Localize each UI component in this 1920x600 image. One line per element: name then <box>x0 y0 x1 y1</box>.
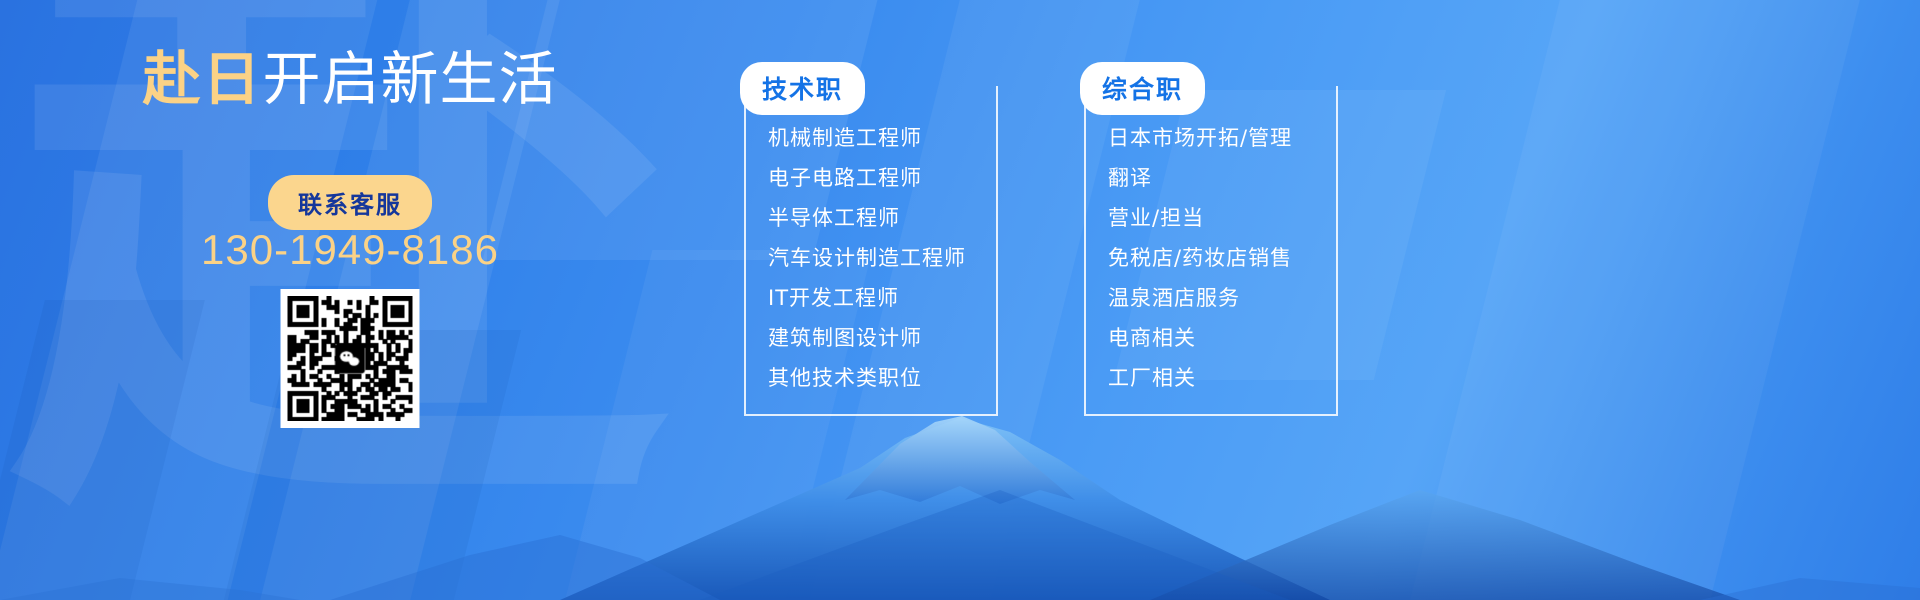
list-item[interactable]: 电子电路工程师 <box>768 158 966 198</box>
job-list-technical: 机械制造工程师 电子电路工程师 半导体工程师 汽车设计制造工程师 IT开发工程师… <box>768 118 966 398</box>
promo-banner: 赴 <box>0 0 1920 600</box>
phone-number[interactable]: 130-1949-8186 <box>0 226 700 274</box>
job-list-general: 日本市场开拓/管理 翻译 营业/担当 免税店/药妆店销售 温泉酒店服务 电商相关… <box>1108 118 1292 398</box>
list-item[interactable]: 营业/担当 <box>1108 198 1292 238</box>
list-item[interactable]: IT开发工程师 <box>768 278 966 318</box>
list-item[interactable]: 其他技术类职位 <box>768 358 966 398</box>
qr-code-image <box>288 296 413 421</box>
contact-support-button[interactable]: 联系客服 <box>268 175 432 230</box>
page-title: 赴日开启新生活 <box>0 48 700 112</box>
list-item[interactable]: 温泉酒店服务 <box>1108 278 1292 318</box>
promo-left-block: 赴日开启新生活 联系客服 130-1949-8186 <box>0 0 700 600</box>
list-item[interactable]: 半导体工程师 <box>768 198 966 238</box>
list-item[interactable]: 建筑制图设计师 <box>768 318 966 358</box>
list-item[interactable]: 免税店/药妆店销售 <box>1108 238 1292 278</box>
list-item[interactable]: 机械制造工程师 <box>768 118 966 158</box>
headline-gold-text: 赴日 <box>142 45 262 113</box>
wechat-qr-code[interactable] <box>281 289 420 428</box>
list-item[interactable]: 汽车设计制造工程师 <box>768 238 966 278</box>
job-category-badge-technical[interactable]: 技术职 <box>740 62 865 115</box>
list-item[interactable]: 翻译 <box>1108 158 1292 198</box>
headline-white-text: 开启新生活 <box>263 45 558 113</box>
job-category-badge-general[interactable]: 综合职 <box>1080 62 1205 115</box>
list-item[interactable]: 电商相关 <box>1108 318 1292 358</box>
list-item[interactable]: 工厂相关 <box>1108 358 1292 398</box>
list-item[interactable]: 日本市场开拓/管理 <box>1108 118 1292 158</box>
